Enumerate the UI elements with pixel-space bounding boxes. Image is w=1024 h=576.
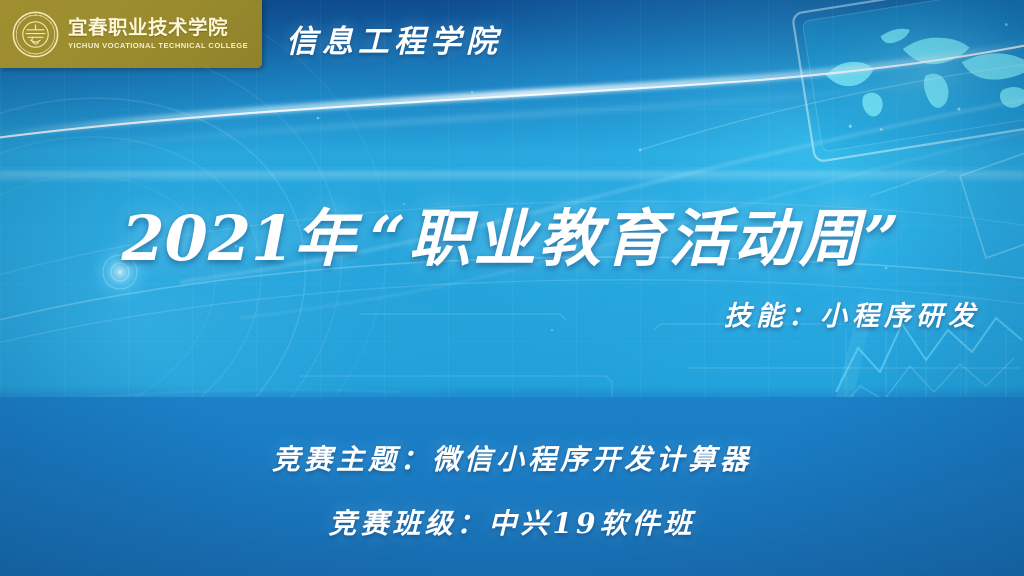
skill-subtitle: 技能：小程序研发 (724, 294, 980, 333)
title-year: 2021年 (122, 202, 357, 275)
college-logo-banner: 宜春职业技术学院 YICHUN VOCATIONAL TECHNICAL COL… (0, 0, 262, 68)
competition-topic-line: 竞赛主题：微信小程序开发计算器 (0, 438, 1024, 478)
college-name-chinese: 宜春职业技术学院 (68, 18, 248, 38)
department-title: 信息工程学院 (286, 16, 502, 61)
competition-class-line: 竞赛班级：中兴19软件班 (0, 502, 1024, 542)
slide-main-title: 2021年“职业教育活动周” (0, 188, 1024, 278)
college-name-block: 宜春职业技术学院 YICHUN VOCATIONAL TECHNICAL COL… (68, 18, 248, 50)
competition-info-block: 竞赛主题：微信小程序开发计算器 竞赛班级：中兴19软件班 (0, 438, 1024, 542)
title-topic: “职业教育活动周” (370, 202, 902, 275)
college-seal-icon (12, 11, 59, 58)
presentation-slide: 宜春职业技术学院 YICHUN VOCATIONAL TECHNICAL COL… (0, 0, 1024, 576)
college-name-english: YICHUN VOCATIONAL TECHNICAL COLLEGE (68, 42, 248, 50)
